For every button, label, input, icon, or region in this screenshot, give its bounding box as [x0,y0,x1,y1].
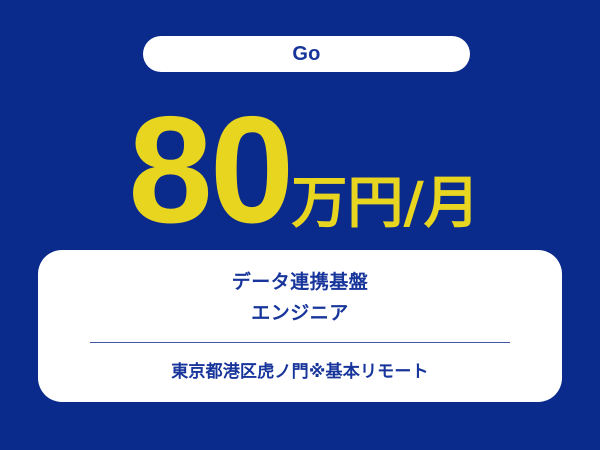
price-amount: 80 [128,111,291,230]
job-title: データ連携基盤 エンジニア [232,267,369,329]
salary-banner: Go 80 万円/月 データ連携基盤 エンジニア 東京都港区虎ノ門※基本リモート [0,0,600,450]
go-badge-label: Go [292,44,320,64]
price-unit: 万円/月 [291,180,479,230]
job-title-line-1: データ連携基盤 [232,267,369,298]
card-divider [90,342,510,343]
job-info-card: データ連携基盤 エンジニア 東京都港区虎ノ門※基本リモート [38,250,562,402]
job-title-line-2: エンジニア [232,298,369,329]
go-badge-pill[interactable]: Go [143,36,470,72]
price-display: 80 万円/月 [0,104,600,230]
job-location: 東京都港区虎ノ門※基本リモート [171,362,429,382]
